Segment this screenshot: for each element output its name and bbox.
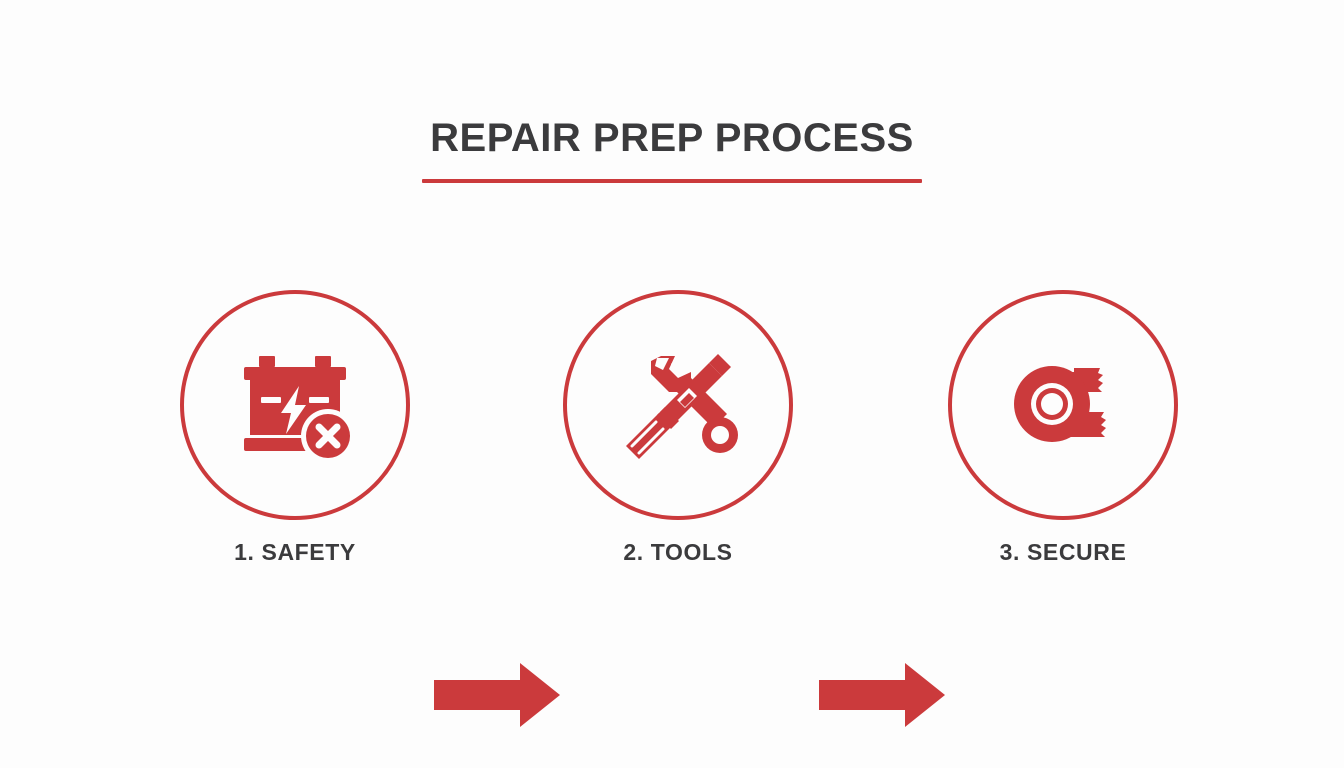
title-underline-rule [422, 179, 922, 183]
step-label-tools: 2. TOOLS [523, 539, 833, 566]
page-title: REPAIR PREP PROCESS [0, 118, 1344, 158]
step-circle-secure [948, 290, 1178, 520]
arrow-right-icon [434, 661, 560, 729]
process-step-safety[interactable]: 1. SAFETY [180, 290, 410, 520]
step-circle-safety [180, 290, 410, 520]
infographic-canvas: REPAIR PREP PROCESS [0, 0, 1344, 768]
title-block: REPAIR PREP PROCESS [0, 118, 1344, 183]
step-label-safety: 1. SAFETY [140, 539, 450, 566]
process-step-tools[interactable]: 2. TOOLS [563, 290, 793, 520]
arrow-right-icon [819, 661, 945, 729]
car-battery-disconnect-icon [232, 342, 358, 468]
process-step-secure[interactable]: 3. SECURE [948, 290, 1178, 520]
process-steps-row: 1. SAFETY [0, 290, 1344, 520]
step-circle-tools [563, 290, 793, 520]
step-label-secure: 3. SECURE [908, 539, 1218, 566]
tape-roll-icon [1000, 342, 1126, 468]
wrench-screwdriver-icon [615, 342, 741, 468]
